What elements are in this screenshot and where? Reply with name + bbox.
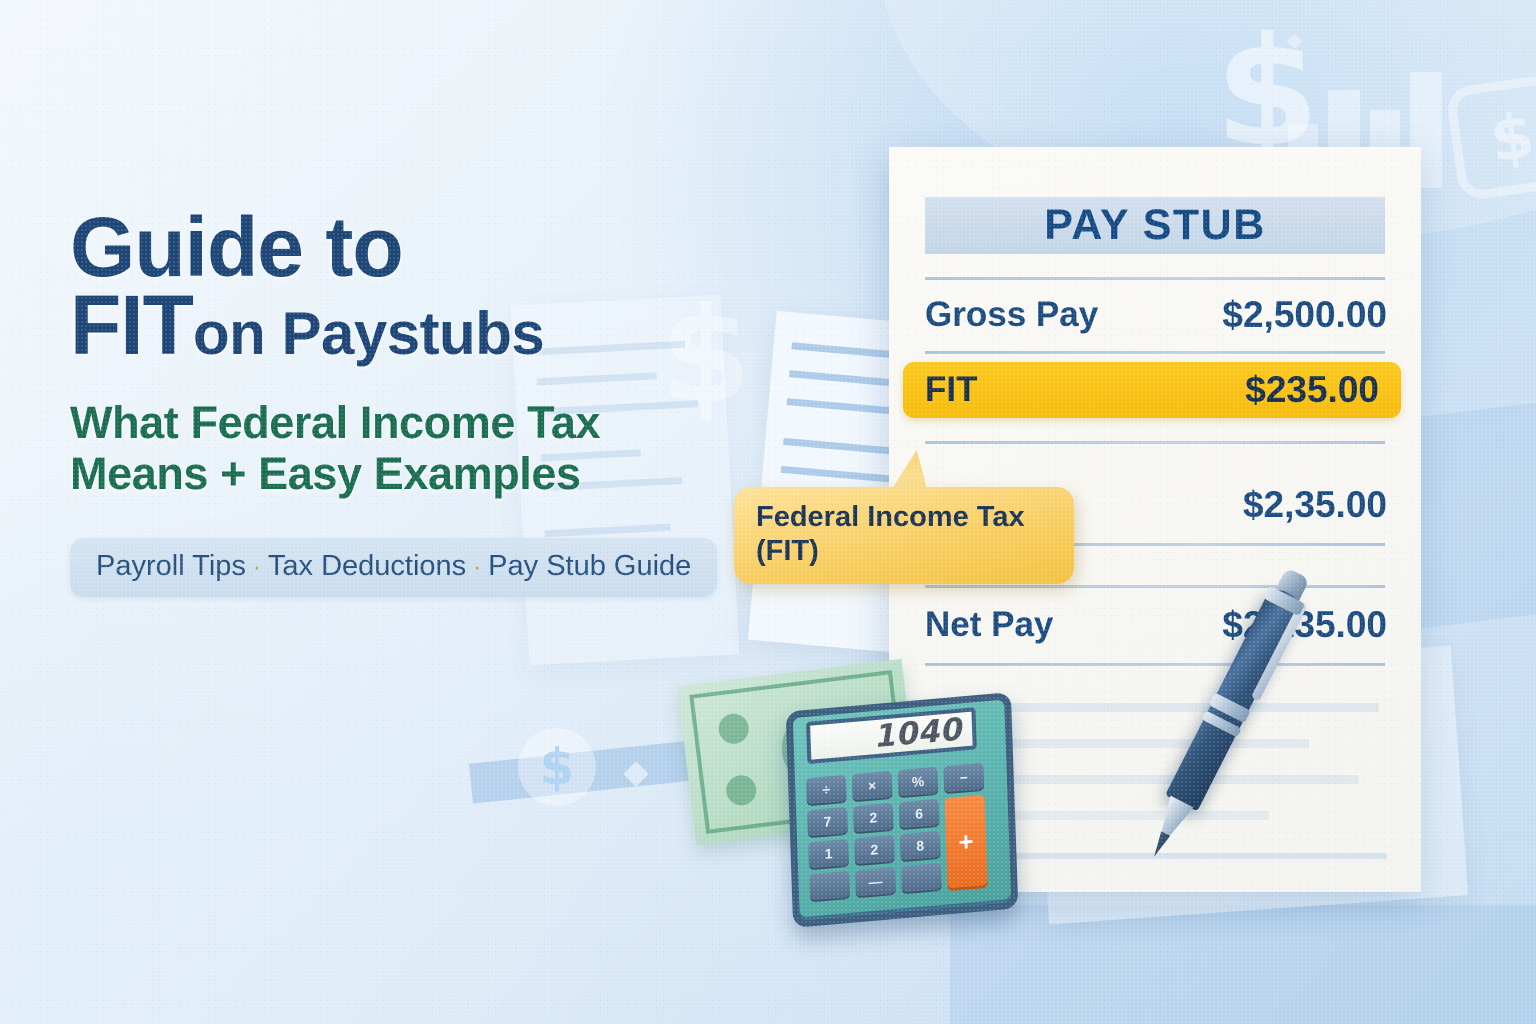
pay-stub-heading-band: PAY STUB <box>925 197 1385 254</box>
calculator-key[interactable]: ÷ <box>806 775 847 805</box>
pen-nib <box>1149 831 1170 859</box>
calculator-key[interactable]: 1 <box>808 839 849 869</box>
stub-divider-3 <box>925 441 1385 444</box>
dollar-coin-watermark: $ <box>518 728 596 806</box>
calculator-display-value: 1040 <box>876 711 965 755</box>
calculator-plus-key[interactable]: + <box>945 795 988 889</box>
gross-pay-amount: $2,500.00 <box>1222 294 1387 336</box>
tag-pay-stub-guide: Pay Stub Guide <box>488 550 691 582</box>
calculator-key[interactable]: 6 <box>899 799 940 829</box>
stub-body-line-4 <box>979 811 1269 820</box>
tag-tax-deductions: Tax Deductions <box>268 550 466 582</box>
subtitle-line-2: Means + Easy Examples <box>70 448 581 499</box>
stub-row-net-pay: Net Pay $2,135.00 <box>925 599 1387 651</box>
background-blue-band-bottom <box>950 905 1536 1024</box>
tag-separator-dot-2: · <box>466 554 488 581</box>
stub-row-fit: FIT $235.00 <box>903 362 1401 418</box>
pay-stub-heading: PAY STUB <box>1044 201 1266 250</box>
stub-row-gross-pay: Gross Pay $2,500.00 <box>925 289 1387 341</box>
title-fit: FIT <box>70 278 193 372</box>
calculator-key[interactable] <box>809 871 850 901</box>
calculator-key[interactable]: × <box>852 771 893 801</box>
gross-pay-label: Gross Pay <box>925 295 1098 335</box>
fit-amount: $235.00 <box>1245 369 1379 411</box>
tag-separator-dot-1: · <box>246 554 268 581</box>
stub-divider-1 <box>925 277 1385 280</box>
title-suffix: on Paystubs <box>193 300 544 367</box>
tag-payroll-tips: Payroll Tips <box>96 550 246 582</box>
fit-label: FIT <box>925 370 977 410</box>
calculator-key[interactable]: 2 <box>853 803 894 833</box>
hero-text-block: Guide to FITon Paystubs What Federal Inc… <box>70 208 770 597</box>
page-title: Guide to FITon Paystubs <box>70 208 770 364</box>
callout-line-1: Federal Income Tax <box>756 501 1054 535</box>
calculator-key[interactable]: — <box>855 867 896 897</box>
subtitle-line-1: What Federal Income Tax <box>70 397 600 448</box>
calculator-key[interactable]: 7 <box>807 807 848 837</box>
calculator-illustration: 1040 ÷ × % − 7 2 6 + 1 2 8 — <box>786 692 1019 928</box>
hero-banner: $ $ $ $ Guide to <box>0 0 1536 1024</box>
calculator-keypad: ÷ × % − 7 2 6 + 1 2 8 — <box>806 763 988 901</box>
calculator-key[interactable]: 8 <box>900 831 941 861</box>
fit-callout-bubble: Federal Income Tax (FIT) <box>734 487 1074 584</box>
net-pay-label: Net Pay <box>925 605 1053 645</box>
stub-divider-2 <box>925 351 1385 354</box>
calculator-key[interactable] <box>901 863 942 893</box>
calculator-key[interactable]: % <box>898 767 939 797</box>
stub-body-line-1 <box>979 703 1379 712</box>
dollar-badge-watermark: $ <box>1445 72 1536 202</box>
calculator-key[interactable]: 2 <box>854 835 895 865</box>
callout-line-2: (FIT) <box>756 535 1054 569</box>
topic-tag-pill: Payroll Tips·Tax Deductions·Pay Stub Gui… <box>70 538 717 597</box>
page-subtitle: What Federal Income Tax Means + Easy Exa… <box>70 398 770 500</box>
third-row-amount: $2,35.00 <box>1243 484 1387 526</box>
calculator-key[interactable]: − <box>943 763 984 793</box>
stub-divider-6 <box>925 663 1385 666</box>
stub-body-line-2 <box>979 739 1309 748</box>
